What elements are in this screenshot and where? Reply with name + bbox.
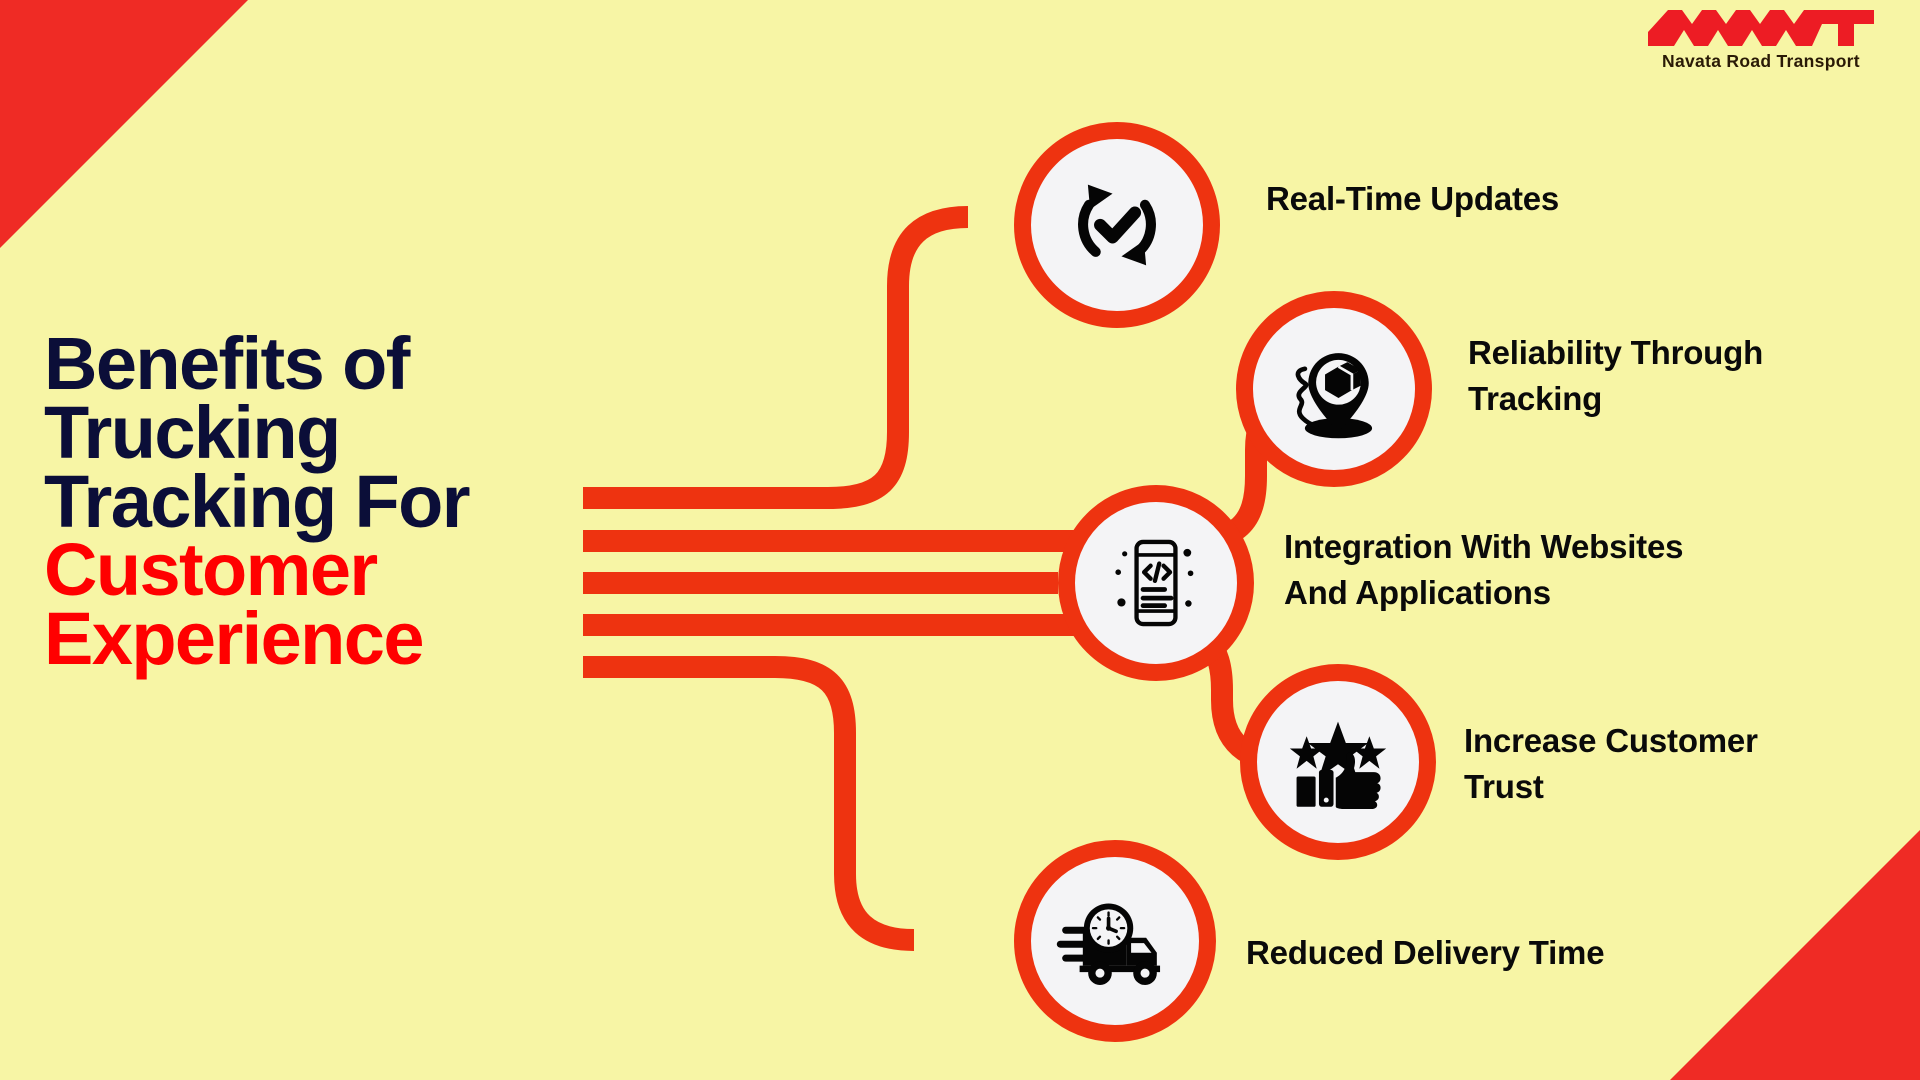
benefit-node-reduced-delivery-time[interactable] bbox=[1014, 840, 1216, 1042]
connector-line-5 bbox=[583, 667, 914, 940]
brand-logo: Navata Road Transport bbox=[1630, 6, 1892, 78]
page-title-line-5: Experience bbox=[44, 605, 604, 674]
benefit-label-increase-customer-trust: Increase Customer Trust bbox=[1464, 718, 1914, 809]
connector-line-1 bbox=[583, 217, 968, 498]
page-title-line-2: Trucking bbox=[44, 399, 604, 468]
benefit-label-line-1: Reliability Through bbox=[1468, 330, 1908, 376]
mobile-code-icon bbox=[1102, 529, 1210, 637]
benefit-label-line-1: Increase Customer bbox=[1464, 718, 1914, 764]
benefit-label-line-1: Reduced Delivery Time bbox=[1246, 930, 1766, 976]
infographic-canvas: Navata Road Transport Benefits of Trucki… bbox=[0, 0, 1920, 1080]
delivery-truck-clock-icon bbox=[1056, 882, 1174, 1000]
benefit-node-integration-with-websites-and-applications[interactable] bbox=[1058, 485, 1254, 681]
refresh-check-icon bbox=[1061, 169, 1173, 281]
benefit-label-integration-with-websites-and-applications: Integration With Websites And Applicatio… bbox=[1284, 524, 1824, 615]
benefit-node-reliability-through-tracking[interactable] bbox=[1236, 291, 1432, 487]
page-title-line-1: Benefits of bbox=[44, 330, 604, 399]
navata-wordmark-icon bbox=[1646, 6, 1876, 50]
benefit-label-line-1: Real-Time Updates bbox=[1266, 176, 1726, 222]
benefit-node-real-time-updates[interactable] bbox=[1014, 122, 1220, 328]
benefit-label-line-2: Trust bbox=[1464, 764, 1914, 810]
benefit-label-reliability-through-tracking: Reliability Through Tracking bbox=[1468, 330, 1908, 421]
benefit-node-increase-customer-trust[interactable] bbox=[1240, 664, 1436, 860]
page-title-line-3: Tracking For bbox=[44, 468, 604, 537]
location-pin-package-icon bbox=[1278, 333, 1390, 445]
page-title-line-4: Customer bbox=[44, 536, 604, 605]
benefit-label-reduced-delivery-time: Reduced Delivery Time bbox=[1246, 930, 1766, 976]
stars-thumbs-up-icon bbox=[1282, 706, 1394, 818]
benefit-label-line-2: And Applications bbox=[1284, 570, 1824, 616]
benefit-label-line-2: Tracking bbox=[1468, 376, 1908, 422]
benefit-label-real-time-updates: Real-Time Updates bbox=[1266, 176, 1726, 222]
brand-logo-text: Navata Road Transport bbox=[1662, 51, 1860, 72]
corner-decoration-top-left bbox=[0, 0, 248, 248]
page-title: Benefits of Trucking Tracking For Custom… bbox=[44, 330, 604, 674]
benefit-label-line-1: Integration With Websites bbox=[1284, 524, 1824, 570]
